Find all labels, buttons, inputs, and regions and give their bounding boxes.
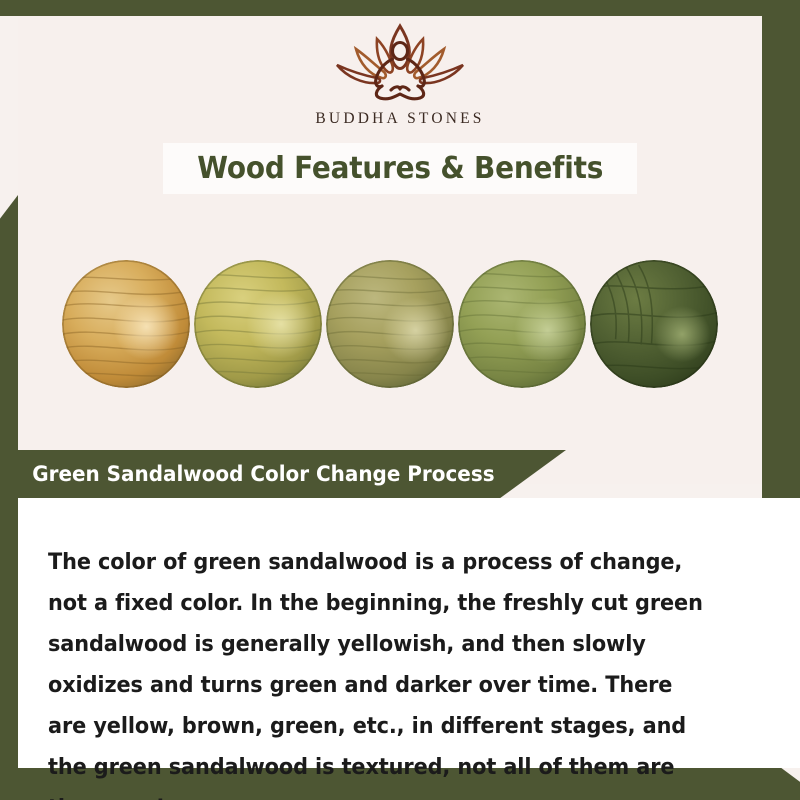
description-text: The color of green sandalwood is a proce… bbox=[48, 542, 716, 800]
page-title: Wood Features & Benefits bbox=[197, 151, 603, 186]
bead-color-stages bbox=[18, 248, 762, 400]
title-banner: Wood Features & Benefits bbox=[163, 143, 637, 194]
section-heading: Green Sandalwood Color Change Process bbox=[18, 462, 495, 486]
bead-stage-5 bbox=[590, 260, 718, 388]
bead-stage-2 bbox=[194, 260, 322, 388]
section-header-bar: Green Sandalwood Color Change Process bbox=[18, 450, 566, 498]
bead-4-surface bbox=[458, 260, 586, 388]
bead-3-surface bbox=[326, 260, 454, 388]
lotus-meditation-icon bbox=[316, 18, 484, 106]
poster-root: BUDDHA STONES Wood Features & Benefits bbox=[0, 0, 800, 800]
frame-top-bar bbox=[0, 0, 800, 16]
brand-name: BUDDHA STONES bbox=[0, 110, 800, 128]
bead-5-surface bbox=[590, 260, 718, 388]
bead-stage-3 bbox=[326, 260, 454, 388]
bead-1-surface bbox=[62, 260, 190, 388]
bead-stage-1 bbox=[62, 260, 190, 388]
description-panel: The color of green sandalwood is a proce… bbox=[18, 498, 800, 768]
frame-left-bar bbox=[0, 195, 18, 785]
brand-logo: BUDDHA STONES bbox=[0, 18, 800, 128]
bead-2-surface bbox=[194, 260, 322, 388]
bead-stage-4 bbox=[458, 260, 586, 388]
